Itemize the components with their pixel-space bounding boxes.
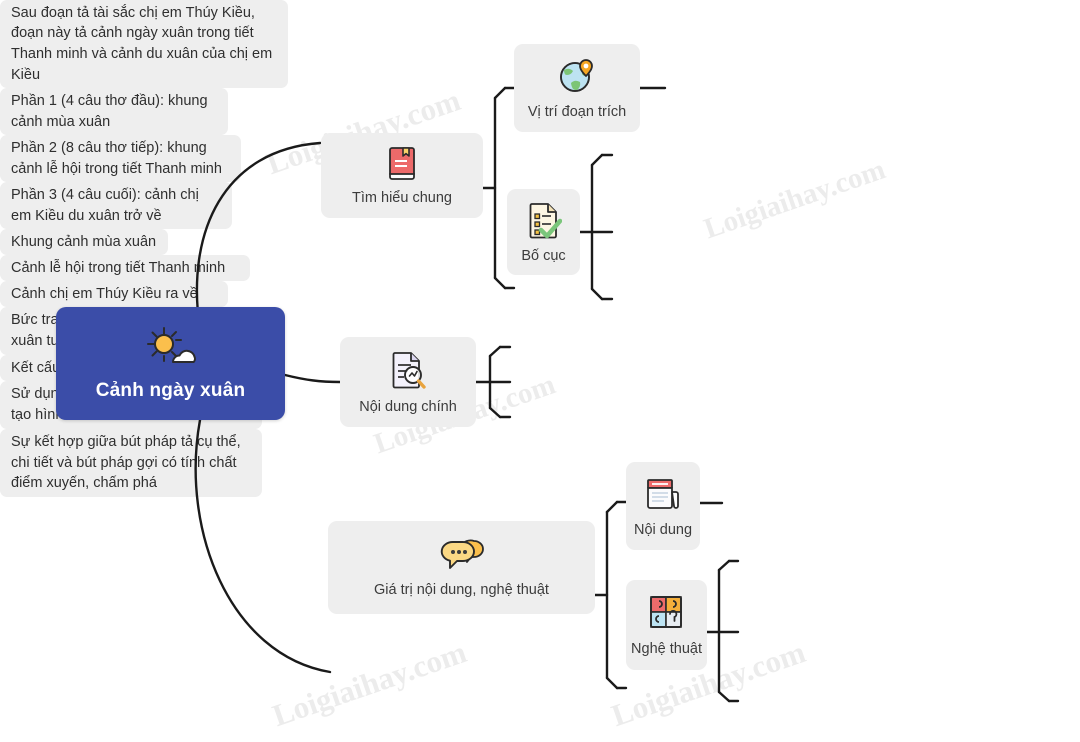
leaf-bo-cuc-1: Phần 1 (4 câu thơ đầu): khung cảnh mùa x… (0, 88, 228, 135)
leaf-text: Phần 3 (4 câu cuối): cảnh chị em Kiều du… (11, 185, 221, 226)
leaf-text: Khung cảnh mùa xuân (11, 232, 156, 253)
leaf-nghe-thuat-3: Sự kết hợp giữa bút pháp tả cụ thể, chi … (0, 429, 262, 497)
leaf-text: Cảnh lễ hội trong tiết Thanh minh (11, 258, 225, 279)
node-noi-dung[interactable]: Nội dung (626, 462, 700, 550)
leaf-bo-cuc-3: Phần 3 (4 câu cuối): cảnh chị em Kiều du… (0, 182, 232, 229)
leaf-text: Phần 1 (4 câu thơ đầu): khung cảnh mùa x… (11, 91, 217, 132)
node-vi-tri-doan-trich[interactable]: Vị trí đoạn trích (514, 44, 640, 132)
root-node[interactable]: Cảnh ngày xuân (56, 307, 285, 420)
leaf-text: Phần 2 (8 câu thơ tiếp): khung cảnh lễ h… (11, 138, 230, 179)
leaf-text: Cảnh chị em Thúy Kiều ra về (11, 284, 198, 305)
node-label: Nghệ thuật (631, 641, 702, 657)
leaf-noi-dung-chinh-2: Cảnh lễ hội trong tiết Thanh minh (0, 255, 250, 281)
leaf-noi-dung-chinh-3: Cảnh chị em Thúy Kiều ra về (0, 281, 228, 307)
chat-bubbles-icon (438, 537, 486, 577)
leaf-text: Sự kết hợp giữa bút pháp tả cụ thể, chi … (11, 432, 251, 494)
node-nghe-thuat[interactable]: Nghệ thuật (626, 580, 707, 670)
sun-cloud-icon (143, 326, 199, 374)
leaf-vi-tri-text: Sau đoạn tả tài sắc chị em Thúy Kiều, đo… (0, 0, 288, 88)
node-gia-tri[interactable]: Giá trị nội dung, nghệ thuật (328, 521, 595, 614)
node-label: Nội dung (634, 522, 692, 538)
leaf-bo-cuc-2: Phần 2 (8 câu thơ tiếp): khung cảnh lễ h… (0, 135, 241, 182)
node-tim-hieu-chung[interactable]: Tìm hiểu chung (321, 133, 483, 218)
leaf-text: Sau đoạn tả tài sắc chị em Thúy Kiều, đo… (11, 3, 277, 85)
watermark-bottom-left: Loigiaihay.com (268, 634, 471, 734)
node-label: Giá trị nội dung, nghệ thuật (374, 582, 549, 598)
node-label: Tìm hiểu chung (352, 190, 452, 206)
node-bo-cuc[interactable]: Bố cục (507, 189, 580, 275)
checklist-document-icon (526, 201, 562, 243)
document-magnifier-icon (389, 350, 427, 394)
watermark-right: Loigiaihay.com (700, 153, 890, 246)
newspaper-icon (644, 475, 682, 517)
globe-pin-icon (557, 57, 597, 99)
node-label: Vị trí đoạn trích (528, 104, 626, 120)
node-label: Nội dung chính (359, 399, 457, 415)
node-noi-dung-chinh[interactable]: Nội dung chính (340, 337, 476, 427)
leaf-noi-dung-chinh-1: Khung cảnh mùa xuân (0, 229, 168, 255)
mindmap-canvas: Loigiaihay.com Loigiaihay.com Loigiaihay… (0, 0, 1080, 742)
node-label: Bố cục (521, 248, 565, 264)
root-label: Cảnh ngày xuân (96, 380, 246, 402)
red-book-icon (385, 145, 419, 185)
puzzle-icon (647, 594, 687, 636)
